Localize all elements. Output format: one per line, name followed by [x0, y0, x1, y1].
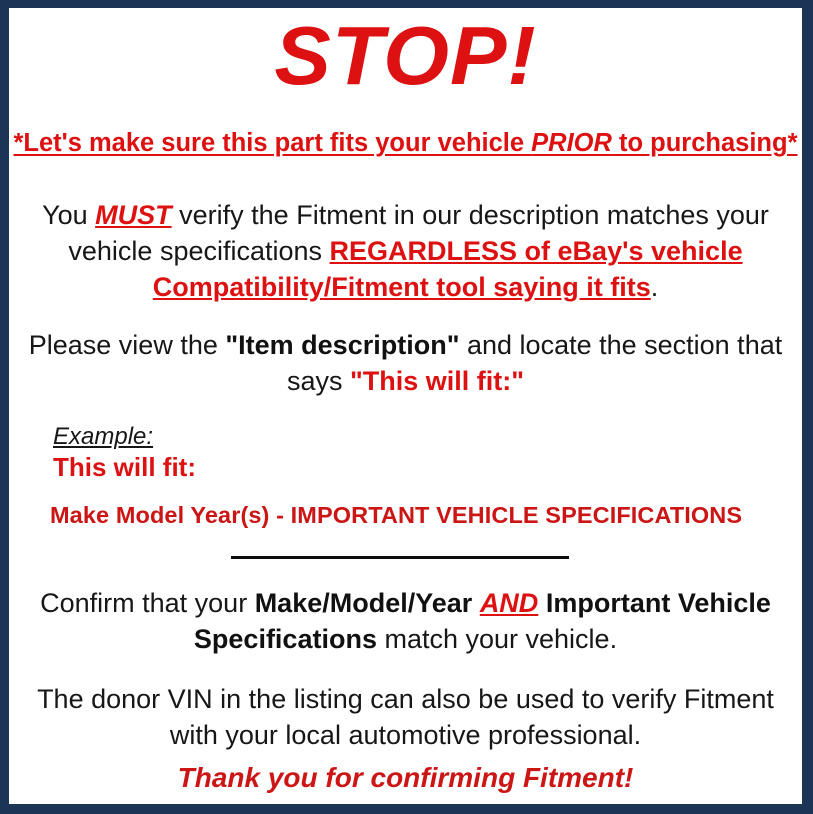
tagline-container: *Let's make sure this part fits your veh…: [9, 129, 802, 158]
tagline-part2: to purchasing*: [612, 129, 798, 157]
must-seg5: .: [651, 272, 659, 302]
example-block: Example: This will fit:: [53, 422, 196, 484]
example-spec-line: Make Model Year(s) - IMPORTANT VEHICLE S…: [50, 502, 742, 529]
closing-message: Thank you for confirming Fitment!: [178, 762, 634, 793]
fitment-notice-card: STOP! *Let's make sure this part fits yo…: [0, 0, 813, 814]
example-label: Example:: [53, 422, 196, 451]
paragraph-donor-vin: The donor VIN in the listing can also be…: [25, 682, 786, 754]
tagline-part1: *Let's make sure this part fits your veh…: [13, 129, 531, 157]
paragraph-item-description: Please view the "Item description" and l…: [25, 328, 786, 400]
tagline-emphasis: PRIOR: [531, 129, 612, 157]
confirm-seg1: Confirm that your: [40, 588, 255, 618]
must-keyword: MUST: [95, 200, 172, 230]
itemdesc-seg1: Please view the: [29, 330, 226, 360]
confirm-seg3: [472, 588, 480, 618]
section-divider: [231, 556, 569, 559]
notice-content-area: STOP! *Let's make sure this part fits yo…: [9, 8, 802, 804]
tagline: *Let's make sure this part fits your veh…: [13, 129, 797, 157]
closing-container: Thank you for confirming Fitment!: [9, 762, 802, 794]
item-description-label: "Item description": [225, 330, 459, 360]
paragraph-confirm: Confirm that your Make/Model/Year AND Im…: [25, 586, 786, 658]
confirm-seg7: match your vehicle.: [377, 624, 617, 654]
confirm-seg5: [538, 588, 546, 618]
paragraph-must-verify: You MUST verify the Fitment in our descr…: [25, 198, 786, 306]
this-will-fit-quote: "This will fit:": [350, 366, 524, 396]
stop-headline-container: STOP!: [9, 14, 802, 97]
and-keyword: AND: [480, 588, 539, 618]
example-fit-heading: This will fit:: [53, 452, 196, 484]
make-model-year-label: Make/Model/Year: [255, 588, 473, 618]
stop-headline: STOP!: [274, 14, 536, 97]
must-seg1: You: [42, 200, 95, 230]
